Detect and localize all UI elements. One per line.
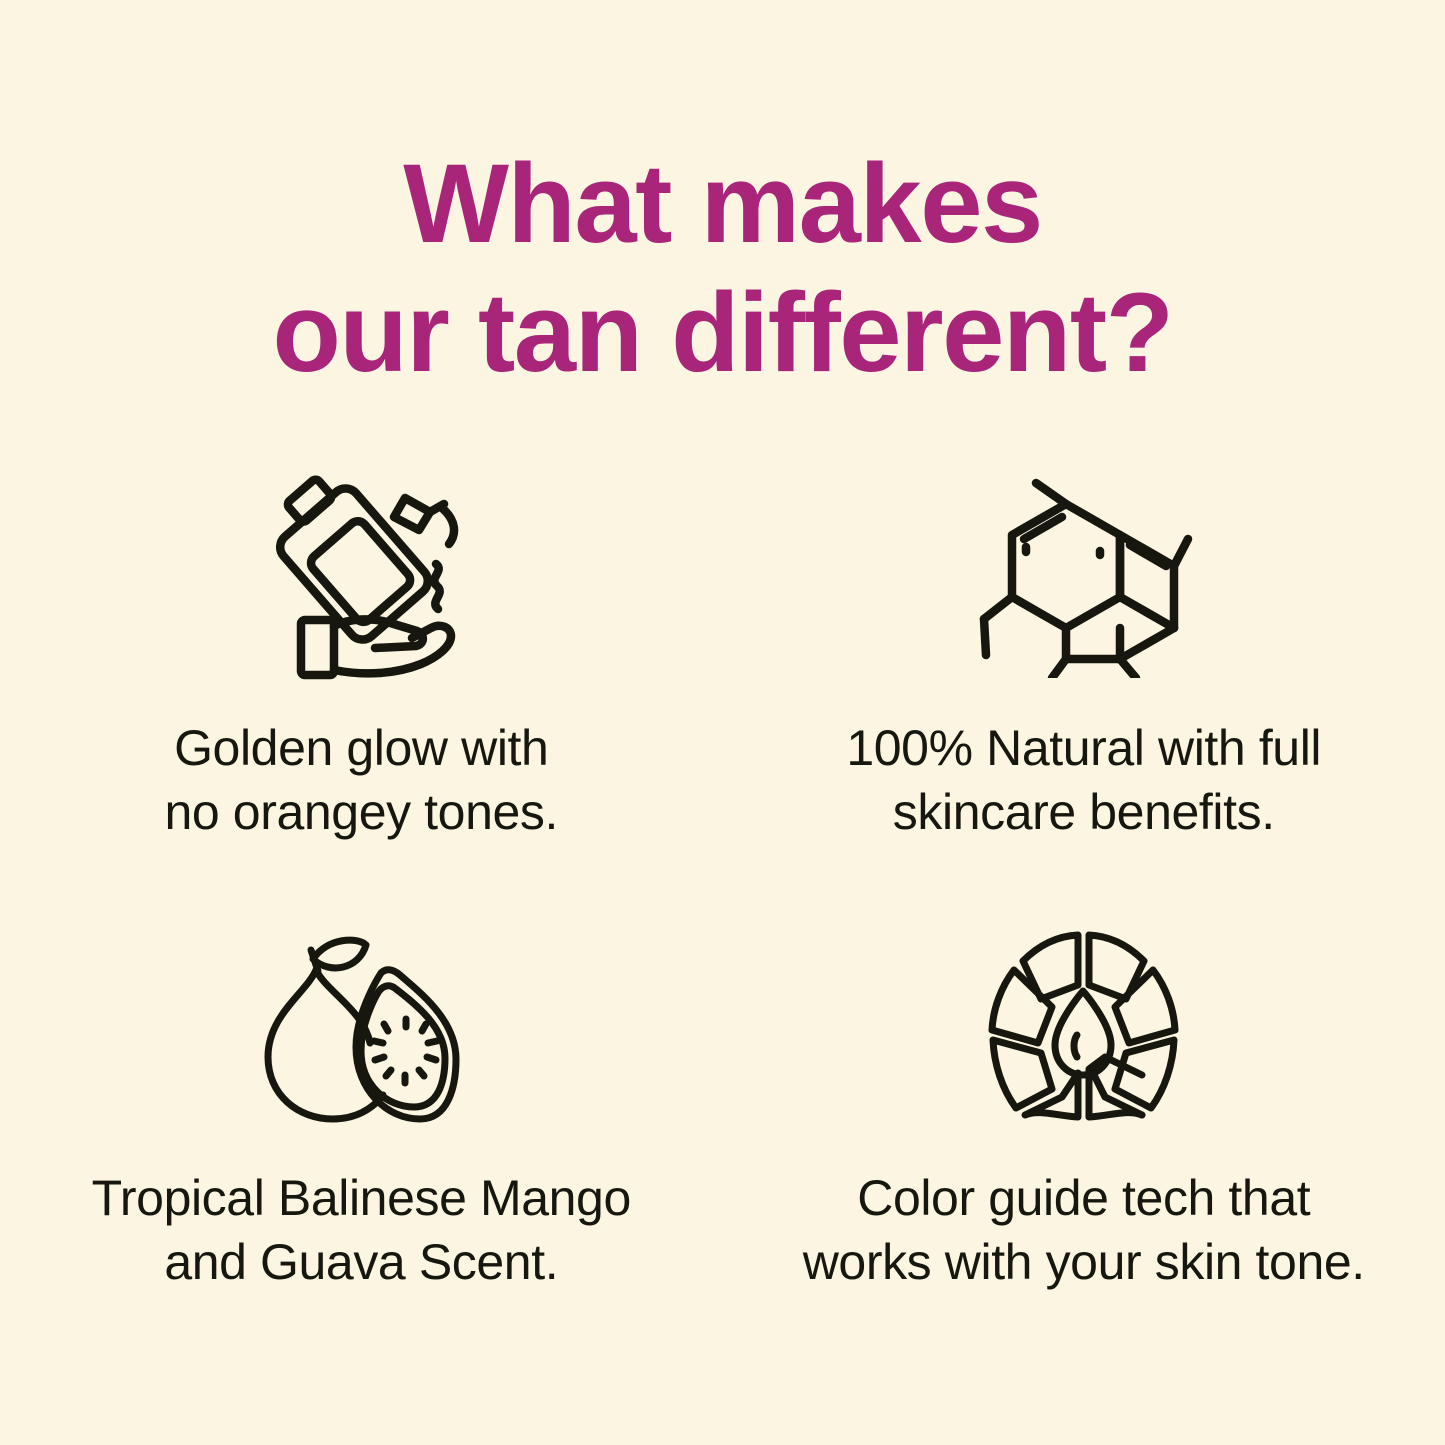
feature-caption: Color guide tech that works with your sk… (803, 1166, 1365, 1294)
molecule-icon (974, 460, 1194, 690)
page-title-line-2: our tan different? (0, 269, 1445, 398)
feature-caption-line-1: Tropical Balinese Mango (92, 1166, 631, 1230)
feature-item-scent: Tropical Balinese Mango and Guava Scent. (0, 910, 723, 1360)
feature-item-color-guide: Color guide tech that works with your sk… (723, 910, 1445, 1360)
feature-caption-line-2: skincare benefits. (846, 780, 1321, 844)
bottle-dispensing-into-hand-icon (246, 460, 476, 690)
feature-caption-line-2: works with your skin tone. (803, 1230, 1365, 1294)
feature-caption-line-2: no orangey tones. (165, 780, 559, 844)
guava-fruit-icon (254, 910, 469, 1140)
feature-caption-line-2: and Guava Scent. (92, 1230, 631, 1294)
feature-caption: Tropical Balinese Mango and Guava Scent. (92, 1166, 631, 1294)
color-wheel-droplet-icon (981, 910, 1186, 1140)
feature-caption-line-1: Golden glow with (165, 716, 559, 780)
feature-item-natural: 100% Natural with full skincare benefits… (723, 460, 1445, 910)
feature-grid: Golden glow with no orangey tones. (0, 460, 1445, 1360)
feature-caption: Golden glow with no orangey tones. (165, 716, 559, 844)
feature-caption-line-1: 100% Natural with full (846, 716, 1321, 780)
page-title: What makes our tan different? (0, 140, 1445, 398)
feature-caption: 100% Natural with full skincare benefits… (846, 716, 1321, 844)
page-title-line-1: What makes (0, 140, 1445, 269)
feature-caption-line-1: Color guide tech that (803, 1166, 1365, 1230)
feature-item-golden-glow: Golden glow with no orangey tones. (0, 460, 723, 910)
promo-graphic: What makes our tan different? (0, 0, 1445, 1445)
